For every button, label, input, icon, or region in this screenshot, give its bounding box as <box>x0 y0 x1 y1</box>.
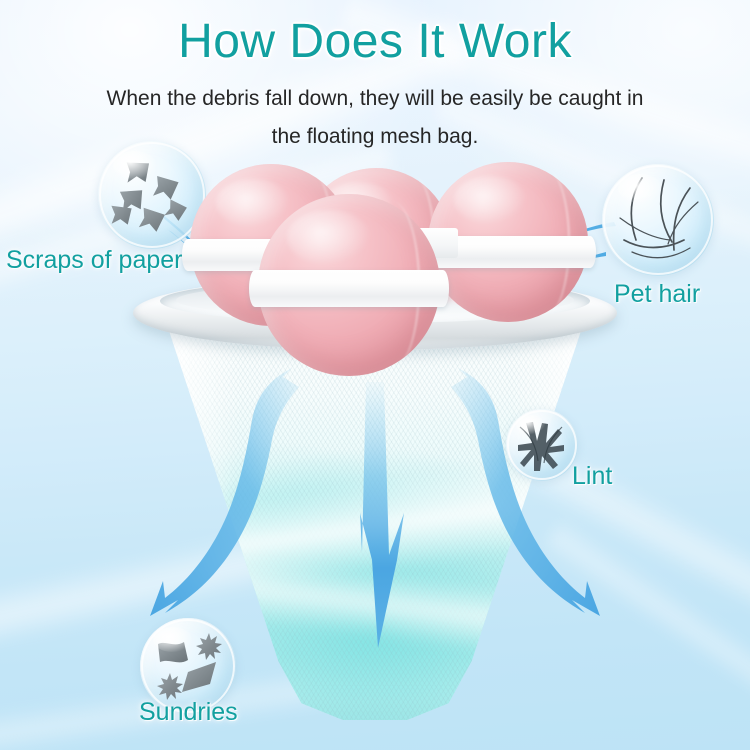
mesh-edge-right <box>508 300 582 720</box>
callout-bubble-pet-hair <box>602 164 714 276</box>
ball-band <box>249 270 449 306</box>
bubble-rim <box>603 165 713 275</box>
ball-highlight <box>216 179 291 228</box>
label-pet-hair: Pet hair <box>614 280 700 309</box>
floating-ball <box>258 194 440 376</box>
bubble-rim <box>99 142 205 248</box>
label-lint: Lint <box>572 462 612 491</box>
bubble-rim <box>507 410 577 480</box>
label-scraps-of-paper: Scraps of paper <box>6 246 183 275</box>
infographic-canvas: How Does It Work When the debris fall do… <box>0 0 750 750</box>
callout-bubble-lint <box>506 409 578 481</box>
ball-highlight <box>287 210 371 265</box>
label-sundries: Sundries <box>139 698 238 727</box>
product-illustration <box>0 0 750 750</box>
